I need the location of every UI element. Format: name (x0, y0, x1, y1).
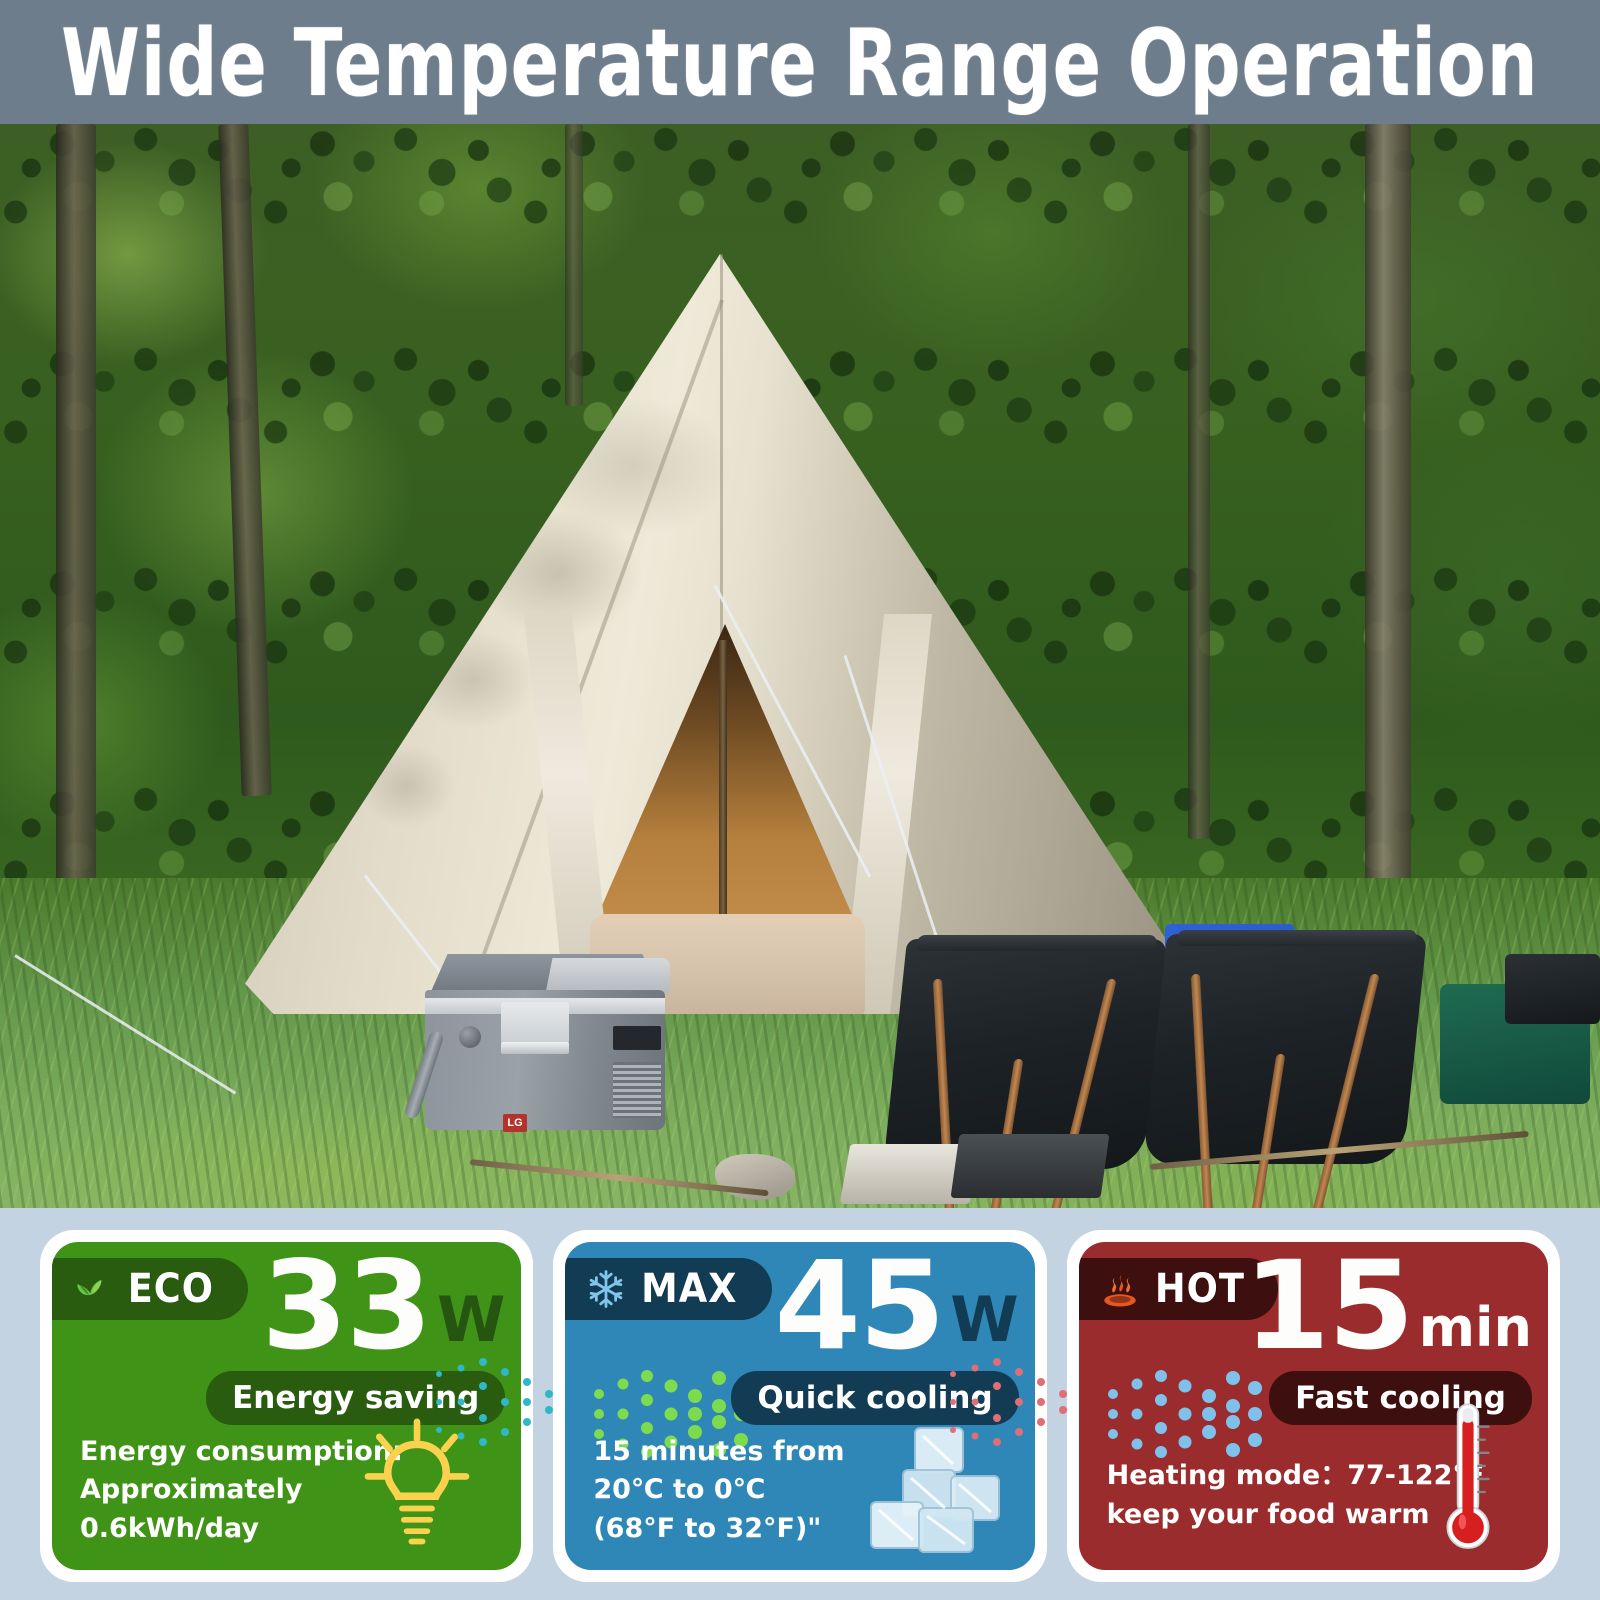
card-text-line: 15 minutes from (593, 1433, 844, 1471)
header-bar: Wide Temperature Range Operation (0, 0, 1600, 124)
connector-eco-to-max (431, 1342, 591, 1462)
tree-trunk (1365, 124, 1411, 970)
product-badge: LG (503, 1114, 527, 1132)
mode-label-max: MAX (642, 1266, 738, 1312)
card-text-line: (68°F to 32°F)" (593, 1510, 844, 1548)
feature-card-hot[interactable]: HOT (1067, 1230, 1560, 1582)
value-number-max: 45 (775, 1248, 944, 1365)
card-text-line: Energy consumption: (80, 1433, 403, 1471)
card-text-line: 0.6kWh/day (80, 1510, 403, 1548)
feature-card-strip: ECO 33 W Energy saving Energy consumptio… (0, 1208, 1600, 1600)
feature-cards: ECO 33 W Energy saving Energy consumptio… (40, 1230, 1560, 1582)
card-text-line: keep your food warm (1107, 1496, 1485, 1534)
fridge-handle-plate (501, 1002, 569, 1044)
value-row-hot: 15 min (1245, 1248, 1532, 1365)
chair-top-rail (916, 935, 1157, 951)
leaf-icon (72, 1268, 114, 1310)
snowflake-icon (585, 1268, 627, 1310)
value-number-hot: 15 (1243, 1248, 1412, 1365)
value-unit-hot: min (1411, 1301, 1532, 1365)
card-text-line: Approximately (80, 1471, 403, 1509)
tree-trunk (56, 124, 96, 883)
page-title: Wide Temperature Range Operation (61, 8, 1538, 117)
card-text-hot: Heating mode：77-122°F keep your food war… (1107, 1457, 1485, 1534)
chair-top-rail (1176, 930, 1417, 946)
infographic-page: Wide Temperature Range Operation (0, 0, 1600, 1600)
dark-chair-right-edge (1505, 954, 1600, 1024)
fire-pit-grate (951, 1134, 1110, 1198)
mode-label-eco: ECO (128, 1266, 214, 1312)
fridge-latch (501, 1042, 569, 1054)
thermometer-icon (1440, 1398, 1496, 1558)
campsite-photo: LG (0, 124, 1600, 1208)
card-text-eco: Energy consumption: Approximately 0.6kWh… (80, 1433, 403, 1548)
card-text-line: Heating mode：77-122°F (1107, 1457, 1485, 1495)
fridge-vent-grille (613, 1062, 661, 1118)
black-camp-chair (1143, 934, 1427, 1164)
fridge-control-panel (613, 1026, 661, 1050)
portable-car-fridge: LG (415, 954, 670, 1134)
fridge-arm-pivot (459, 1026, 481, 1048)
card-text-max: 15 minutes from 20℃ to 0℃ (68°F to 32°F)… (593, 1433, 844, 1548)
mode-label-hot: HOT (1155, 1266, 1245, 1312)
card-surface-hot: HOT (1079, 1242, 1548, 1570)
hot-spring-icon (1099, 1268, 1141, 1310)
chair-backrest (1143, 934, 1427, 1164)
connector-max-to-hot (945, 1342, 1105, 1462)
value-number-eco: 33 (261, 1248, 430, 1365)
card-text-line: 20℃ to 0℃ (593, 1471, 844, 1509)
